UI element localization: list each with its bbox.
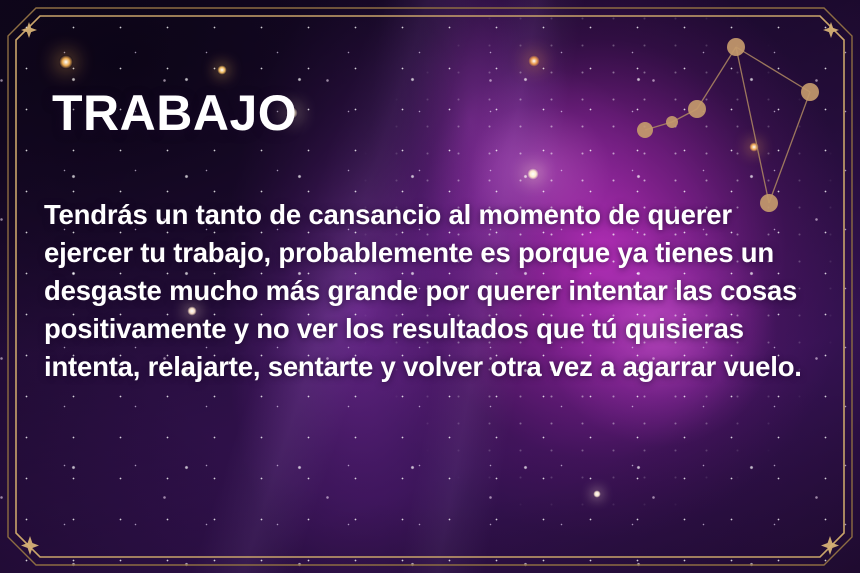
page-title: TRABAJO bbox=[52, 88, 297, 138]
card-content: TRABAJO Tendrás un tanto de cansancio al… bbox=[44, 0, 834, 573]
horoscope-card: TRABAJO Tendrás un tanto de cansancio al… bbox=[0, 0, 860, 573]
body-paragraph: Tendrás un tanto de cansancio al momento… bbox=[44, 196, 819, 386]
sparkle-icon bbox=[21, 536, 39, 555]
sparkle-icon bbox=[21, 22, 37, 38]
